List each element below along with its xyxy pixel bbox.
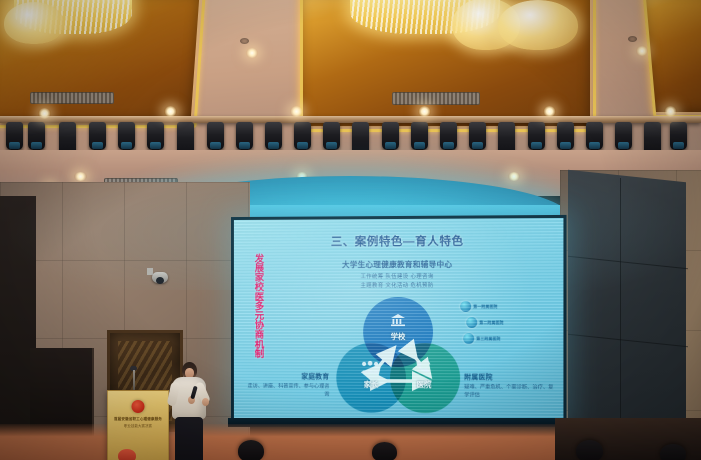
label-body: 疑难、严重危机、个案诊断、治疗、复学评估 [464, 383, 557, 400]
conference-hall-photo: 三、案例特色—育人特色 大学生心理健康教育和辅导中心 工作统筹 队伍建设 心理咨… [0, 0, 701, 460]
gold-panel-frame-right [642, 0, 701, 118]
ceiling-downlight [636, 46, 648, 56]
truss-downlight [38, 108, 51, 119]
family-group-icon [360, 361, 380, 379]
partner-logo-name: 第二附属医院 [479, 320, 503, 325]
soffit-downlight [508, 172, 520, 181]
podium-banner: 首届安徽省职工心理健康服务 职业技能大赛决赛 [107, 390, 169, 460]
slide-label-family-education: 家庭教育 走访、讲座、科普宣传、参与心理咨询 [247, 371, 330, 399]
phone-call-icon [414, 359, 431, 379]
ceiling-pot-ring [628, 36, 637, 42]
truss-downlight [543, 106, 556, 117]
truss-downlight [290, 106, 303, 117]
presenter-trousers [175, 417, 203, 460]
chandelier-right-crystal [498, 0, 578, 50]
slide-label-affiliated-hospital: 附属医院 疑难、严重危机、个案诊断、治疗、复学评估 [464, 371, 557, 400]
label-body: 走访、讲座、科普宣传、参与心理咨询 [247, 382, 330, 398]
security-camera-icon [152, 272, 168, 283]
venn-diagram: 学校 家长 医院 [336, 297, 458, 415]
slide-vertical-banner: 发展家校医多元协商机制 [248, 254, 265, 359]
venn-label-school: 学校 [378, 331, 418, 342]
hospital-logo-icon [466, 317, 477, 328]
partner-logo-item: 第一附属医院 [460, 301, 561, 312]
venn-label-parents: 家长 [351, 379, 391, 390]
wall-seam [620, 178, 621, 440]
soffit-downlight [74, 172, 87, 181]
truss-downlight [664, 106, 677, 117]
podium-title-line-1: 首届安徽省职工心理健康服务 [108, 417, 168, 422]
ceiling-air-vent [30, 92, 114, 104]
ceiling-pot-ring [240, 38, 249, 44]
podium-title-line-2: 职业技能大赛决赛 [108, 423, 168, 428]
partner-logo-name: 第三附属医院 [476, 336, 500, 341]
projection-screen[interactable]: 三、案例特色—育人特色 大学生心理健康教育和辅导中心 工作统筹 队伍建设 心理咨… [231, 215, 567, 423]
truss-downlight [418, 106, 431, 117]
slide-canvas: 三、案例特色—育人特色 大学生心理健康教育和辅导中心 工作统筹 队伍建设 心理咨… [234, 218, 564, 420]
slide-subtitle-detail: 工作统筹 队伍建设 心理咨询 主题教育 文化活动 危机预防 [234, 273, 564, 291]
podium-red-ribbon [118, 449, 136, 460]
slide-title: 三、案例特色—育人特色 [234, 232, 564, 250]
partner-logo-item: 第三附属医院 [463, 333, 561, 344]
chandelier-left-crystal [4, 2, 64, 44]
presenter-hand-right [202, 398, 209, 406]
partner-logo-list: 第一附属医院 第二附属医院 第三附属医院 [460, 301, 561, 349]
partner-logo-name: 第一附属医院 [473, 304, 497, 309]
venn-label-hospital: 医院 [404, 379, 444, 390]
bank-building-icon [390, 313, 406, 332]
right-dark-wall-panel [568, 170, 686, 450]
hospital-logo-icon [463, 333, 474, 344]
slide-subtitle: 大学生心理健康教育和辅导中心 [234, 258, 564, 270]
slide-subtitle-line-2: 主题教育 文化活动 危机预防 [234, 281, 564, 290]
ceiling-air-vent [392, 92, 480, 105]
hospital-logo-icon [460, 301, 471, 312]
podium-microphone-stand [133, 370, 135, 392]
label-heading: 家庭教育 [247, 371, 330, 381]
presenter [168, 362, 212, 460]
truss-downlight [164, 106, 177, 117]
label-heading: 附属医院 [464, 371, 557, 381]
ceiling-downlight [246, 48, 258, 58]
red-round-emblem-icon [132, 400, 145, 413]
partner-logo-item: 第二附属医院 [466, 317, 561, 328]
